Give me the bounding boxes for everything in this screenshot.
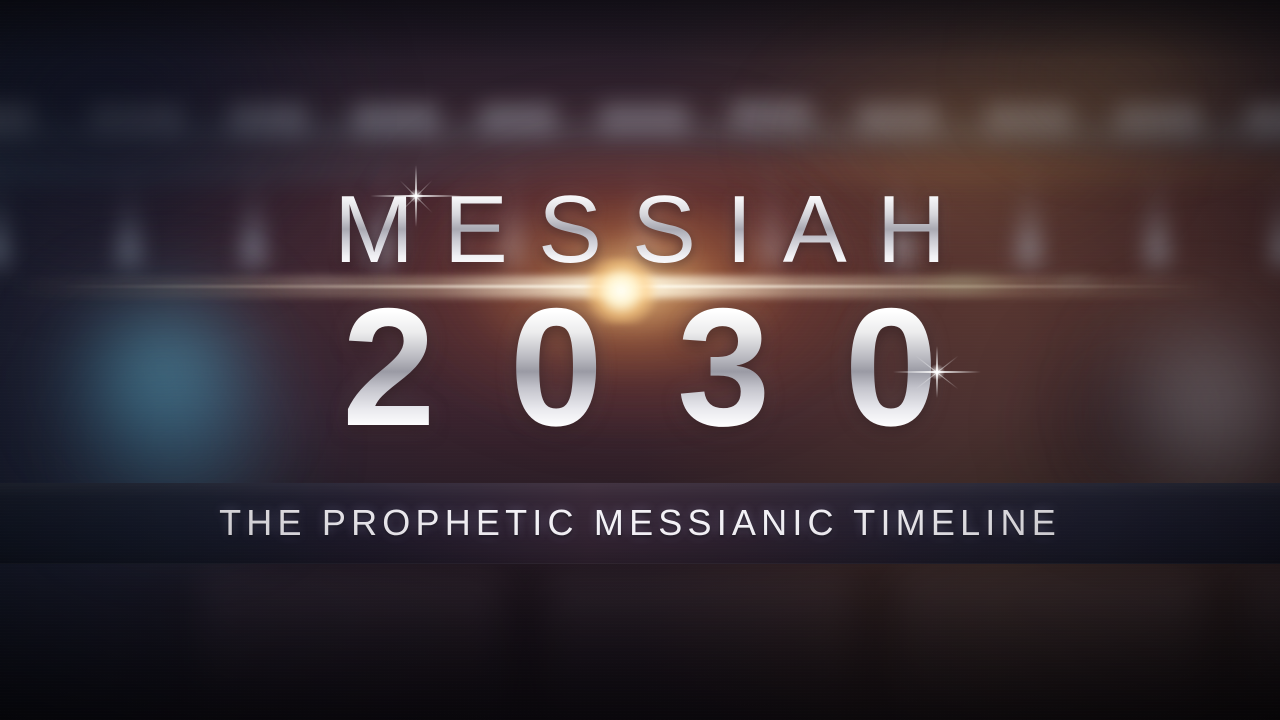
main-title: MESSIAH bbox=[0, 182, 1280, 278]
subtitle-text: THE PROPHETIC MESSIANIC TIMELINE bbox=[0, 495, 1280, 551]
year-title: 2030 bbox=[0, 292, 1280, 442]
title-card-frame: MESSIAH MESSIAH 2030 2030 THE PROPHETIC … bbox=[0, 0, 1280, 720]
title-group: MESSIAH MESSIAH 2030 2030 bbox=[0, 0, 1280, 720]
